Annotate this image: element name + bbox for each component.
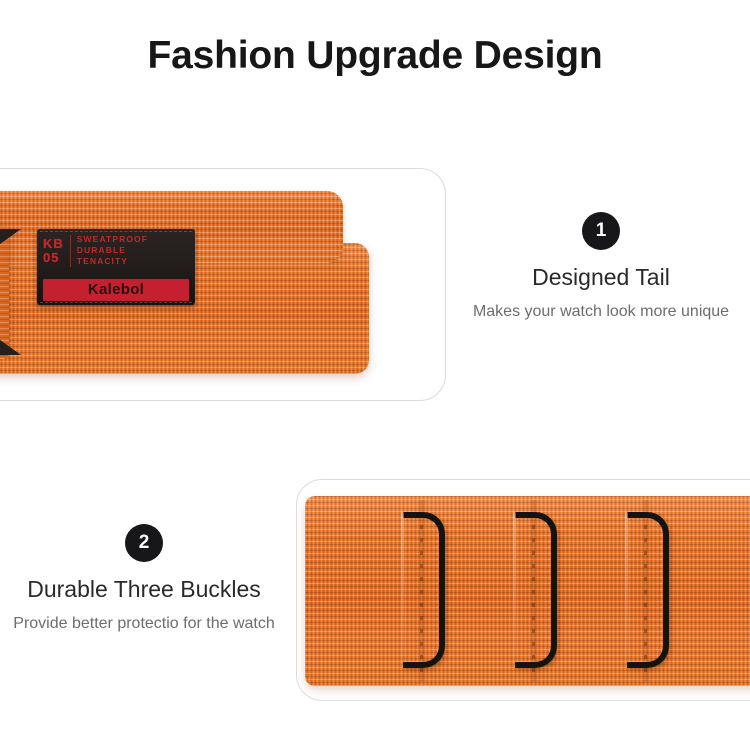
care-label-top-row: KB 05 SWEATPROOF DURABLE TENACITY	[43, 234, 189, 267]
buckle-loop-3	[627, 512, 669, 668]
feature-number-badge-1: 1	[582, 212, 620, 250]
feature-title-1: Designed Tail	[452, 262, 750, 292]
feature-block-2: 2 Durable Three Buckles Provide better p…	[0, 524, 288, 635]
buckle-loop-2	[515, 512, 557, 668]
photo-card-three-buckles	[296, 479, 750, 701]
care-label-divider	[70, 235, 71, 267]
care-label-claims: SWEATPROOF DURABLE TENACITY	[77, 234, 148, 267]
feature-description-1: Makes your watch look more unique	[452, 300, 750, 323]
care-label: KB 05 SWEATPROOF DURABLE TENACITY Kalebo…	[37, 229, 195, 305]
feature-title-2: Durable Three Buckles	[0, 574, 288, 604]
strap-keeper-band	[0, 227, 9, 359]
infographic-page: Fashion Upgrade Design KB 05 SWEATPROOF …	[0, 0, 750, 750]
feature-block-1: 1 Designed Tail Makes your watch look mo…	[452, 212, 750, 323]
brand-name: Kalebol	[88, 282, 144, 298]
care-label-code: KB 05	[43, 237, 64, 265]
feature-number-badge-2: 2	[125, 524, 163, 562]
buckle-loop-1	[403, 512, 445, 668]
photo-card-designed-tail: KB 05 SWEATPROOF DURABLE TENACITY Kalebo…	[0, 168, 446, 401]
feature-description-2: Provide better protectio for the watch	[0, 612, 288, 635]
page-title: Fashion Upgrade Design	[0, 30, 750, 82]
care-label-brand-band: Kalebol	[43, 279, 189, 301]
